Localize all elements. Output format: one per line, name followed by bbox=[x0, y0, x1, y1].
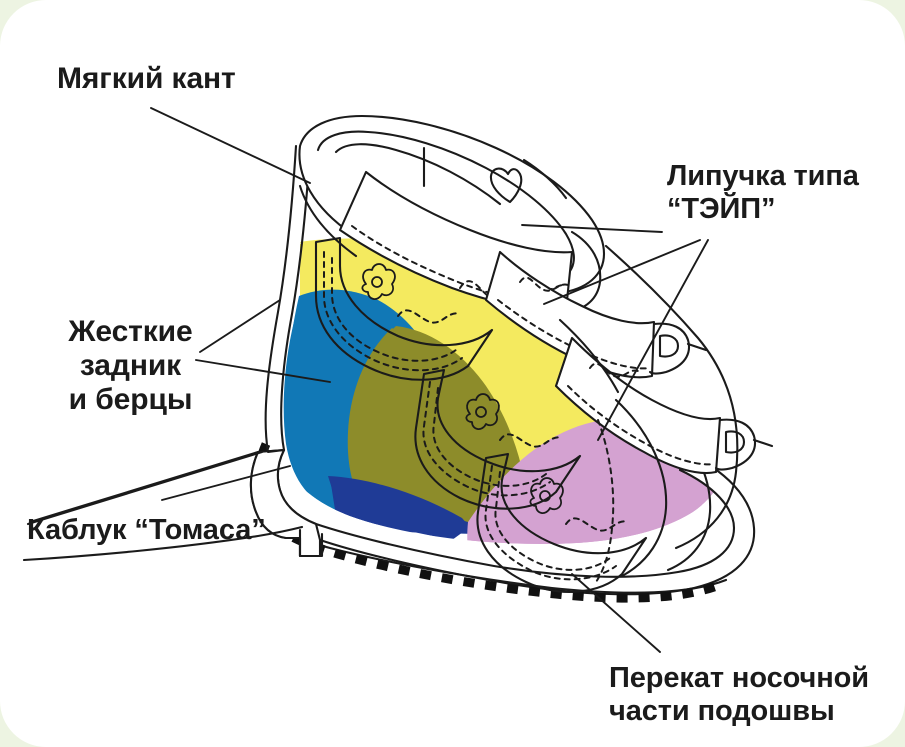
leader-velcro-1 bbox=[522, 225, 662, 232]
label-toe-roll: Перекат носочной части подошвы bbox=[609, 662, 869, 728]
label-soft-edge: Мягкий кант bbox=[57, 62, 236, 96]
leader-velcro-3 bbox=[598, 240, 708, 440]
leader-toe-roll bbox=[572, 574, 660, 652]
label-velcro-tape: Липучка типа “ТЭЙП” bbox=[667, 160, 859, 226]
label-stiff-counter: Жесткие задник и берцы bbox=[48, 315, 213, 418]
leader-thomas bbox=[162, 466, 290, 500]
figure-card: Мягкий кант Липучка типа “ТЭЙП” Жесткие … bbox=[0, 0, 905, 747]
label-thomas-heel: Каблук “Томаса” bbox=[27, 514, 266, 547]
leader-stiff-b bbox=[196, 360, 330, 382]
leader-velcro-2 bbox=[544, 240, 700, 304]
leader-soft-edge bbox=[151, 108, 310, 183]
